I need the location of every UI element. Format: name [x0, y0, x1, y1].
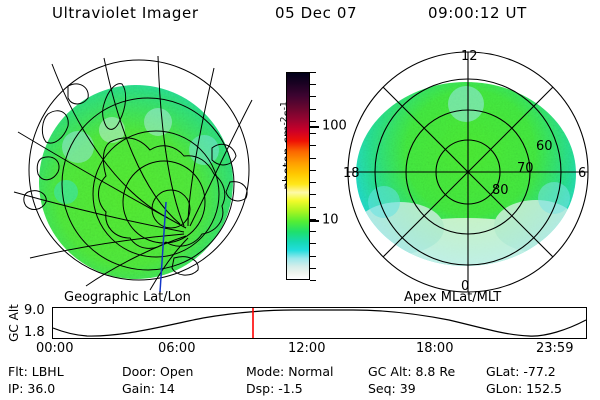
status-gain: Gain: 14: [122, 381, 175, 396]
observation-date: 05 Dec 07: [275, 4, 357, 22]
status-glat: GLat: -77.2: [486, 364, 556, 379]
status-mode: Mode: Normal: [246, 364, 333, 379]
header-bar: Ultraviolet Imager 05 Dec 07 09:00:12 UT: [0, 4, 600, 30]
instrument-title: Ultraviolet Imager: [52, 4, 199, 22]
colorbar-minor-tick: [310, 109, 316, 110]
altitude-axis-label: GC Alt: [6, 303, 22, 345]
status-door: Door: Open: [122, 364, 193, 379]
colorbar-minor-tick: [310, 243, 316, 244]
colorbar-minor-tick: [310, 84, 316, 85]
spacecraft-altitude-plot[interactable]: [52, 307, 587, 339]
status-seq: Seq: 39: [368, 381, 416, 396]
mlat-label-80: 80: [492, 183, 509, 198]
colorbar-minor-tick: [310, 170, 316, 171]
status-flt: Flt: LBHL: [8, 364, 64, 379]
colorbar-minor-tick: [310, 121, 316, 122]
status-gcalt: GC Alt: 8.8 Re: [368, 364, 455, 379]
colorbar-minor-tick: [310, 231, 316, 232]
mlt-label-6: 6: [578, 166, 586, 181]
mlt-label-12: 12: [461, 49, 478, 64]
colorbar-minor-tick: [310, 207, 316, 208]
time-tick-4: 23:59: [536, 341, 573, 356]
status-row-0: Flt: LBHL Door: Open Mode: Normal GC Alt…: [0, 364, 600, 380]
mlt-label-18: 18: [343, 166, 360, 181]
colorbar-minor-tick: [310, 133, 316, 134]
status-ip: IP: 36.0: [8, 381, 55, 396]
altitude-max-value: 9.0: [24, 303, 45, 318]
colorbar-major-tick-0: [310, 126, 319, 128]
colorbar-minor-tick: [310, 256, 316, 257]
colorbar-major-tick-1: [310, 220, 319, 222]
altitude-min-value: 1.8: [24, 325, 45, 340]
altitude-trace: [53, 310, 586, 336]
colorbar-minor-tick: [310, 72, 316, 73]
geographic-aurora-plot[interactable]: [8, 42, 270, 294]
status-row-1: IP: 36.0 Gain: 14 Dsp: -1.5 Seq: 39 GLon…: [0, 381, 600, 397]
colorbar-tick-label-1: 10: [322, 213, 339, 226]
status-bar: Flt: LBHL Door: Open Mode: Normal GC Alt…: [0, 364, 600, 398]
colorbar-minor-tick: [310, 96, 316, 97]
status-glon: GLon: 152.5: [486, 381, 562, 396]
colorbar-minor-tick: [310, 182, 316, 183]
apex-mlat-mlt-plot[interactable]: 12 6 0 18 60 70 80: [340, 42, 600, 294]
mlat-label-70: 70: [517, 161, 534, 176]
colorbar-scale[interactable]: [286, 72, 310, 280]
time-tick-2: 12:00: [288, 341, 325, 356]
time-tick-1: 06:00: [158, 341, 195, 356]
colorbar-minor-tick: [310, 145, 316, 146]
observation-time: 09:00:12 UT: [428, 4, 527, 22]
left-plot-caption: Geographic Lat/Lon: [64, 290, 191, 305]
mlat-label-60: 60: [536, 139, 553, 154]
mlt-graticule: [348, 52, 588, 292]
colorbar-minor-tick: [310, 158, 316, 159]
colorbar-minor-tick: [310, 268, 316, 269]
time-tick-0: 00:00: [36, 341, 73, 356]
colorbar-minor-tick: [310, 194, 316, 195]
status-dsp: Dsp: -1.5: [246, 381, 303, 396]
colorbar-gradient: [287, 73, 309, 279]
colorbar-minor-tick: [310, 280, 316, 281]
time-tick-3: 18:00: [416, 341, 453, 356]
right-plot-caption: Apex MLat/MLT: [404, 290, 501, 305]
